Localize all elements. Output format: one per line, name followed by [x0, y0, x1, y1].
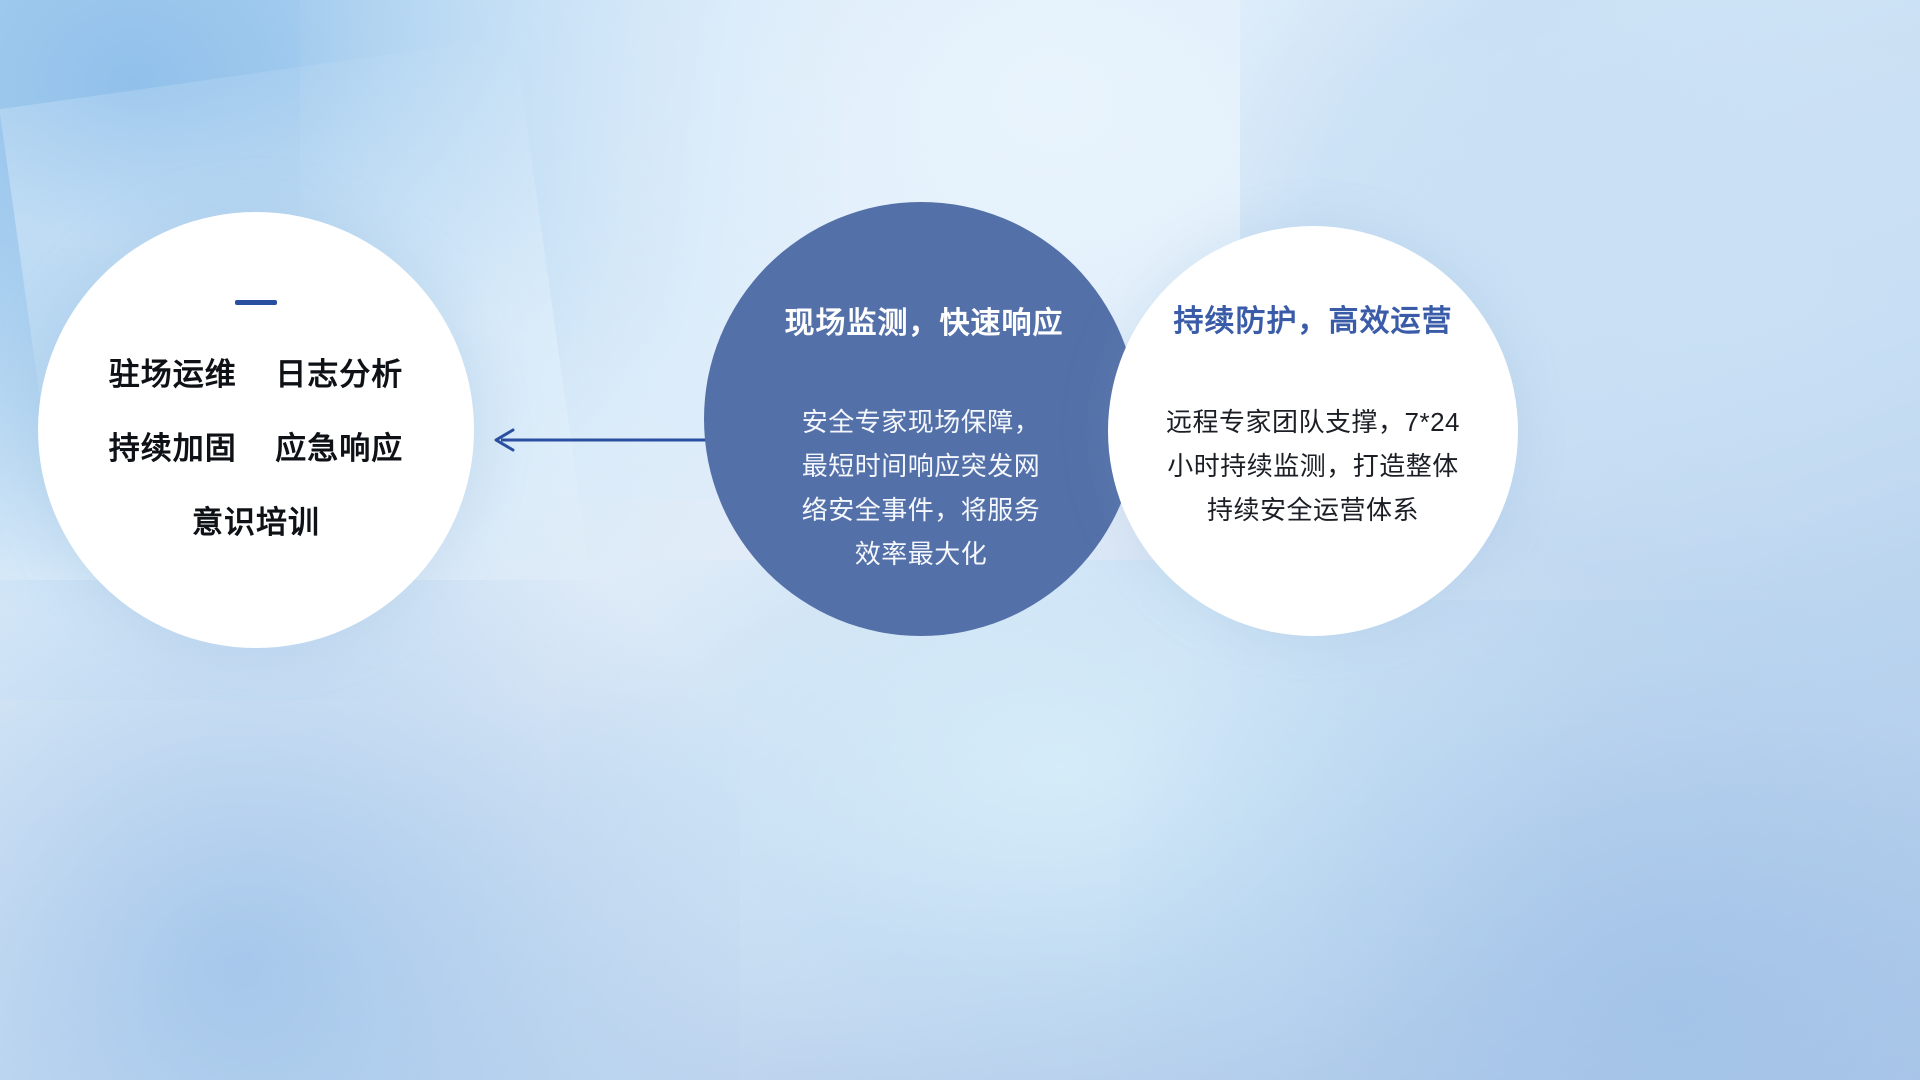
right-operations-circle: 持续防护，高效运营 远程专家团队支撑，7*24 小时持续监测，打造整体 持续安全… [1108, 226, 1518, 636]
middle-body-line-2: 最短时间响应突发网 [746, 444, 1096, 488]
right-body-line-3: 持续安全运营体系 [1134, 488, 1492, 532]
slide-canvas: 驻场运维 日志分析 持续加固 应急响应 意识培训 现场监测，快速响应 安全专家现… [0, 0, 1920, 1080]
middle-body-line-1: 安全专家现场保障， [746, 400, 1096, 444]
left-circle-content: 驻场运维 日志分析 持续加固 应急响应 意识培训 [38, 300, 474, 542]
left-circle-line-2: 持续加固 应急响应 [38, 423, 474, 468]
background-glow-bottom-right [1120, 600, 1920, 1080]
horizontal-dash-icon [235, 300, 277, 305]
middle-body-line-4: 效率最大化 [746, 532, 1096, 576]
middle-body-line-3: 络安全事件，将服务 [746, 488, 1096, 532]
right-circle-content: 持续防护，高效运营 远程专家团队支撑，7*24 小时持续监测，打造整体 持续安全… [1108, 296, 1518, 532]
right-circle-title: 持续防护，高效运营 [1134, 296, 1492, 340]
left-circle-line-3: 意识培训 [38, 497, 474, 542]
middle-circle-content: 现场监测，快速响应 安全专家现场保障， 最短时间响应突发网 络安全事件，将服务 … [704, 298, 1138, 576]
left-arrow-icon [487, 418, 712, 462]
right-body-line-1: 远程专家团队支撑，7*24 [1134, 400, 1492, 444]
left-circle-line-1: 驻场运维 日志分析 [38, 349, 474, 394]
right-body-line-2: 小时持续监测，打造整体 [1134, 444, 1492, 488]
right-circle-body: 远程专家团队支撑，7*24 小时持续监测，打造整体 持续安全运营体系 [1134, 400, 1492, 532]
middle-circle-title: 现场监测，快速响应 [752, 298, 1096, 342]
middle-onsite-circle: 现场监测，快速响应 安全专家现场保障， 最短时间响应突发网 络安全事件，将服务 … [704, 202, 1138, 636]
middle-circle-body: 安全专家现场保障， 最短时间响应突发网 络安全事件，将服务 效率最大化 [746, 400, 1096, 576]
left-capability-circle: 驻场运维 日志分析 持续加固 应急响应 意识培训 [38, 212, 474, 648]
